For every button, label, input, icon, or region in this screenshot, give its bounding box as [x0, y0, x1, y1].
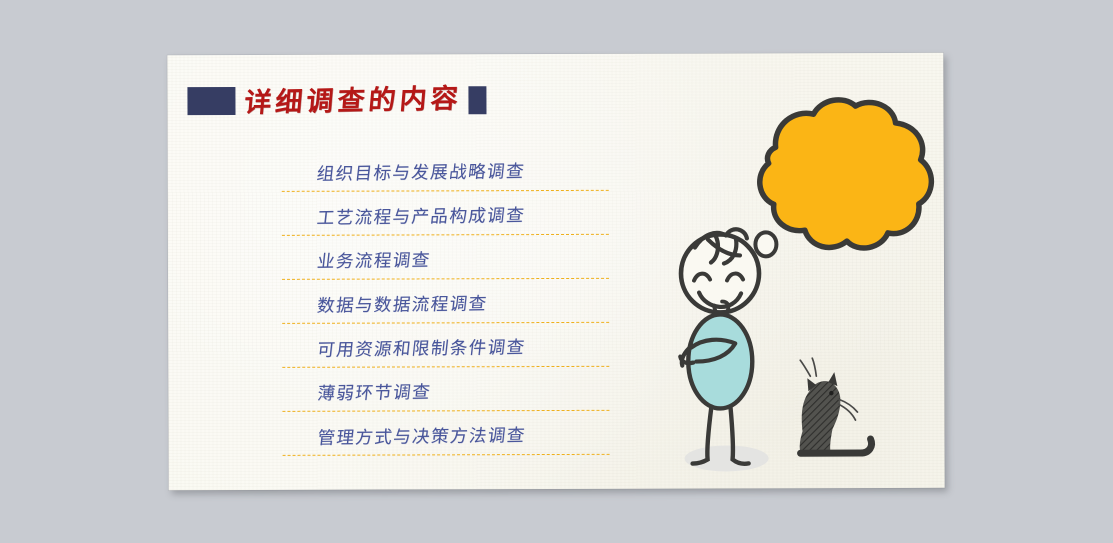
list-item: 数据与数据流程调查	[282, 279, 609, 324]
cat-eye-icon	[829, 391, 833, 395]
list-item: 可用资源和限制条件调查	[282, 323, 609, 368]
list-item: 工艺流程与产品构成调查	[282, 191, 609, 236]
slide-canvas: 详细调查的内容 组织目标与发展战略调查 工艺流程与产品构成调查 业务流程调查 数…	[0, 0, 1113, 543]
illustration-svg	[647, 73, 938, 484]
title-accent-bar-right	[468, 86, 486, 114]
page-title: 详细调查的内容	[243, 85, 463, 116]
cat-body-icon	[800, 381, 841, 453]
list-item-label: 可用资源和限制条件调查	[316, 340, 526, 360]
thought-bubble-dot-large	[755, 232, 776, 256]
list-item-label: 组织目标与发展战略调查	[316, 164, 526, 184]
list-item-label: 工艺流程与产品构成调查	[316, 208, 526, 228]
title-accent-bar-left	[187, 87, 235, 115]
list-item-divider	[283, 454, 610, 456]
thought-bubble-icon	[760, 100, 932, 249]
list-item-label: 数据与数据流程调查	[316, 296, 488, 316]
list-item-label: 管理方式与决策方法调查	[316, 428, 526, 448]
survey-content-list: 组织目标与发展战略调查 工艺流程与产品构成调查 业务流程调查 数据与数据流程调查…	[282, 147, 610, 456]
list-item-label: 薄弱环节调查	[316, 384, 431, 403]
person-shadow-ellipse	[685, 445, 769, 471]
cat-icon	[799, 358, 871, 453]
thinking-person-with-cat-illustration	[647, 73, 938, 484]
slide-title-group: 详细调查的内容	[187, 84, 486, 117]
list-item: 组织目标与发展战略调查	[282, 147, 609, 192]
list-item: 业务流程调查	[282, 235, 609, 280]
list-item: 薄弱环节调查	[282, 367, 609, 412]
list-item: 管理方式与决策方法调查	[282, 411, 609, 456]
list-item-label: 业务流程调查	[316, 252, 431, 271]
presentation-slide: 详细调查的内容 组织目标与发展战略调查 工艺流程与产品构成调查 业务流程调查 数…	[167, 53, 944, 490]
